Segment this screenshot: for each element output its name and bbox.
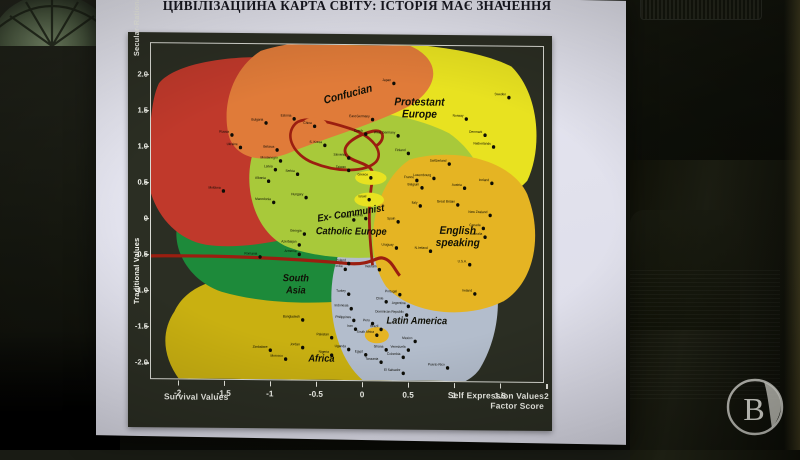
country-label: Great Britain: [437, 199, 455, 203]
country-label: Morocco: [270, 354, 282, 358]
data-point: [364, 132, 367, 136]
country-label: Russia: [219, 130, 229, 134]
y-axis-ticks: 2.01.51.00.50-0.5-1.0-1.5-2.0: [128, 42, 148, 379]
data-point: [313, 124, 316, 128]
country-label: Venezuela: [391, 345, 406, 349]
projection-screen: ЦИВІЛІЗАЦІЙНА КАРТА СВІТУ: ІСТОРІЯ МАЄ З…: [96, 0, 626, 445]
country-label: Austria: [452, 183, 462, 187]
data-point: [432, 177, 435, 181]
y-tick-mark: [144, 182, 149, 183]
country-label: Brazil: [370, 324, 378, 328]
data-point: [392, 82, 395, 86]
country-label: New Zealand: [468, 210, 487, 214]
country-label: Belgium: [408, 182, 420, 186]
country-label: Uruguay: [381, 243, 393, 247]
region-label-africa: Africa: [307, 353, 335, 365]
data-point: [375, 333, 378, 337]
y-tick-mark: [144, 254, 149, 255]
country-label: Italy: [412, 201, 418, 205]
data-point: [482, 227, 485, 231]
x-tick-label: -0.5: [309, 390, 323, 399]
x-tick-mark: [316, 382, 317, 387]
data-point: [296, 172, 299, 176]
y-tick-mark: [144, 146, 149, 147]
country-label: Greece: [358, 172, 369, 176]
country-label: Finland: [395, 148, 406, 152]
country-label: Denmark: [469, 130, 482, 134]
data-point: [448, 162, 451, 166]
country-label: Iran: [347, 324, 353, 328]
data-point: [230, 133, 233, 137]
country-label: South Africa: [357, 330, 375, 334]
country-label: Uganda: [335, 344, 346, 348]
country-label: Ukraine: [227, 142, 238, 146]
country-label: Netherlands: [473, 141, 491, 145]
country-label: Iceland: [479, 178, 490, 182]
data-point: [407, 152, 410, 156]
data-point: [347, 348, 350, 352]
country-label: Georgia: [290, 229, 302, 233]
data-point: [269, 348, 272, 352]
data-point: [402, 355, 405, 359]
country-label: China: [303, 121, 312, 125]
data-point: [420, 186, 423, 190]
data-point: [347, 262, 350, 266]
country-label: Montenegro: [261, 155, 278, 159]
data-point: [264, 121, 267, 125]
data-point: [347, 169, 350, 173]
data-point: [275, 148, 278, 152]
x-tick-mark: [224, 381, 225, 386]
country-label: Dominican Republic: [375, 309, 404, 313]
region-label-catholic-europe: Catholic Europe: [316, 226, 387, 238]
data-point: [344, 268, 347, 272]
country-label: S. Korea: [310, 140, 323, 144]
region-label-latin-america: Latin America: [387, 315, 448, 327]
data-point: [396, 134, 399, 138]
data-point: [379, 328, 382, 332]
data-point: [301, 318, 304, 322]
data-point: [456, 203, 459, 207]
data-point: [414, 340, 417, 344]
y-tick-mark: [144, 110, 149, 111]
region-label-english-speaking: Englishspeaking: [436, 224, 480, 249]
country-label: Romania: [244, 251, 257, 255]
data-point: [347, 156, 350, 160]
country-label: India: [336, 264, 343, 268]
plot-frame: RussiaBulgariaEstoniaUkraineBelarusMonte…: [150, 42, 544, 383]
country-label: Luxembourg: [413, 173, 431, 177]
country-label: Argentina: [392, 301, 406, 305]
data-point: [323, 144, 326, 148]
data-point: [395, 246, 398, 250]
svg-text:B: B: [743, 391, 764, 427]
country-label: Moldova: [208, 185, 220, 189]
country-label: Slovenia: [334, 152, 346, 156]
data-point: [239, 146, 242, 150]
data-point: [347, 292, 350, 296]
data-point: [293, 117, 296, 121]
country-label: El Salvador: [384, 368, 401, 372]
country-label: Pakistan: [317, 332, 329, 336]
data-point: [463, 186, 466, 190]
data-point: [350, 307, 353, 311]
x-tick-mark: [546, 384, 547, 389]
data-point: [301, 346, 304, 350]
country-label: West Germany: [374, 130, 396, 134]
country-label: Taiwan: [336, 165, 346, 169]
country-label: Indonesia: [335, 303, 349, 307]
data-point: [379, 360, 382, 364]
data-point: [507, 96, 510, 100]
data-point: [330, 336, 333, 340]
data-point: [483, 133, 486, 137]
x-tick-label: 0.5: [402, 391, 413, 400]
y-tick-mark: [144, 218, 149, 219]
country-label: N.Ireland: [415, 246, 428, 250]
data-point: [303, 232, 306, 236]
country-label: Ireland: [462, 288, 472, 292]
right-edge-glow: [784, 0, 800, 450]
country-label: Peru: [363, 318, 370, 322]
x-tick-mark: [408, 383, 409, 388]
data-point: [407, 305, 410, 309]
country-label: Philippines: [335, 315, 351, 319]
country-label: France: [404, 175, 414, 179]
data-point: [258, 255, 261, 259]
x-tick-mark: [362, 382, 363, 387]
country-label: Czech: [354, 129, 363, 133]
data-point: [364, 217, 367, 221]
data-point: [407, 348, 410, 352]
x-axis-left-label: Survival Values: [164, 391, 228, 402]
country-label: Hungary: [291, 192, 303, 196]
country-label: U.S.A.: [458, 259, 467, 263]
region-label-south-asia: SouthAsia: [283, 273, 309, 297]
data-point: [492, 145, 495, 149]
country-label: Bulgaria: [251, 117, 263, 121]
country-label: Mexico: [402, 336, 412, 340]
plot-area: RussiaBulgariaEstoniaUkraineBelarusMonte…: [151, 43, 543, 382]
data-point: [369, 176, 372, 180]
data-point: [222, 189, 225, 193]
country-label: Puerto Rico: [428, 362, 445, 366]
x-tick-label: 2: [544, 392, 549, 401]
data-point: [298, 243, 301, 247]
x-tick-label: 0: [360, 390, 365, 399]
country-label: Israel: [358, 194, 366, 198]
country-label: Serbia: [285, 169, 294, 173]
country-label: Egypt: [355, 349, 363, 353]
x-tick-mark: [270, 381, 271, 386]
y-tick-mark: [144, 74, 149, 75]
data-point: [304, 196, 307, 200]
projector-grille: [640, 0, 762, 20]
y-tick-mark: [144, 290, 149, 291]
country-label: Zimbabwe: [253, 345, 268, 349]
country-label: Chile: [376, 296, 383, 300]
cultural-map-figure: Secular-Rational Values Traditional Valu…: [128, 32, 552, 431]
data-point: [429, 249, 432, 253]
data-point: [352, 319, 355, 323]
country-label: Norway: [453, 114, 464, 118]
country-label: Switzerland: [430, 158, 447, 162]
country-label: Japan: [382, 78, 391, 82]
data-point: [446, 366, 449, 370]
x-tick-label: -1: [266, 389, 273, 398]
country-label: East Germany: [349, 114, 370, 118]
country-label: Estonia: [281, 113, 292, 117]
data-point: [468, 263, 471, 267]
page-title: ЦИВІЛІЗАЦІЙНА КАРТА СВІТУ: ІСТОРІЯ МАЄ З…: [96, 0, 618, 14]
x-axis-right-sub: Factor Score: [490, 400, 544, 411]
data-point: [483, 235, 486, 239]
data-point: [378, 268, 381, 272]
data-point: [298, 253, 301, 257]
country-label: Azerbaijan: [281, 239, 296, 243]
country-label: Colombia: [387, 352, 401, 356]
data-point: [367, 198, 370, 202]
country-label: Macedonia: [255, 197, 271, 201]
country-label: Turkey: [336, 289, 346, 293]
data-point: [489, 214, 492, 218]
data-point: [385, 300, 388, 304]
y-tick-mark: [144, 362, 149, 363]
x-axis-right-label: Self Expression Values Factor Score: [448, 391, 544, 411]
country-label: Vietnam: [365, 264, 377, 268]
country-label: Spain: [387, 216, 395, 220]
country-label: Jordan: [290, 342, 300, 346]
data-point: [371, 118, 374, 122]
data-point: [419, 204, 422, 208]
country-label: Armenia: [284, 249, 296, 253]
data-point: [398, 293, 401, 297]
data-point: [279, 159, 282, 163]
x-tick-mark: [454, 383, 455, 388]
data-point: [396, 220, 399, 224]
country-label: Bangladesh: [283, 314, 300, 318]
data-point: [284, 357, 287, 361]
data-point: [272, 201, 275, 205]
data-point: [267, 179, 270, 183]
data-point: [274, 168, 277, 172]
y-tick-mark: [144, 326, 149, 327]
country-label: Belarus: [263, 145, 274, 149]
country-label: Poland: [336, 258, 346, 262]
data-point: [490, 182, 493, 186]
country-label: Sweden: [494, 92, 506, 96]
x-tick-mark: [500, 384, 501, 389]
country-label: Tanzania: [365, 357, 378, 361]
data-point: [473, 292, 476, 296]
country-label: Albania: [255, 176, 266, 180]
data-point: [465, 117, 468, 121]
x-tick-mark: [178, 380, 179, 385]
country-label: Portugal: [385, 289, 397, 293]
watermark-logo: B: [724, 376, 786, 438]
country-label: Ghana: [374, 344, 384, 348]
country-label: Latvia: [264, 164, 273, 168]
data-point: [402, 371, 405, 375]
